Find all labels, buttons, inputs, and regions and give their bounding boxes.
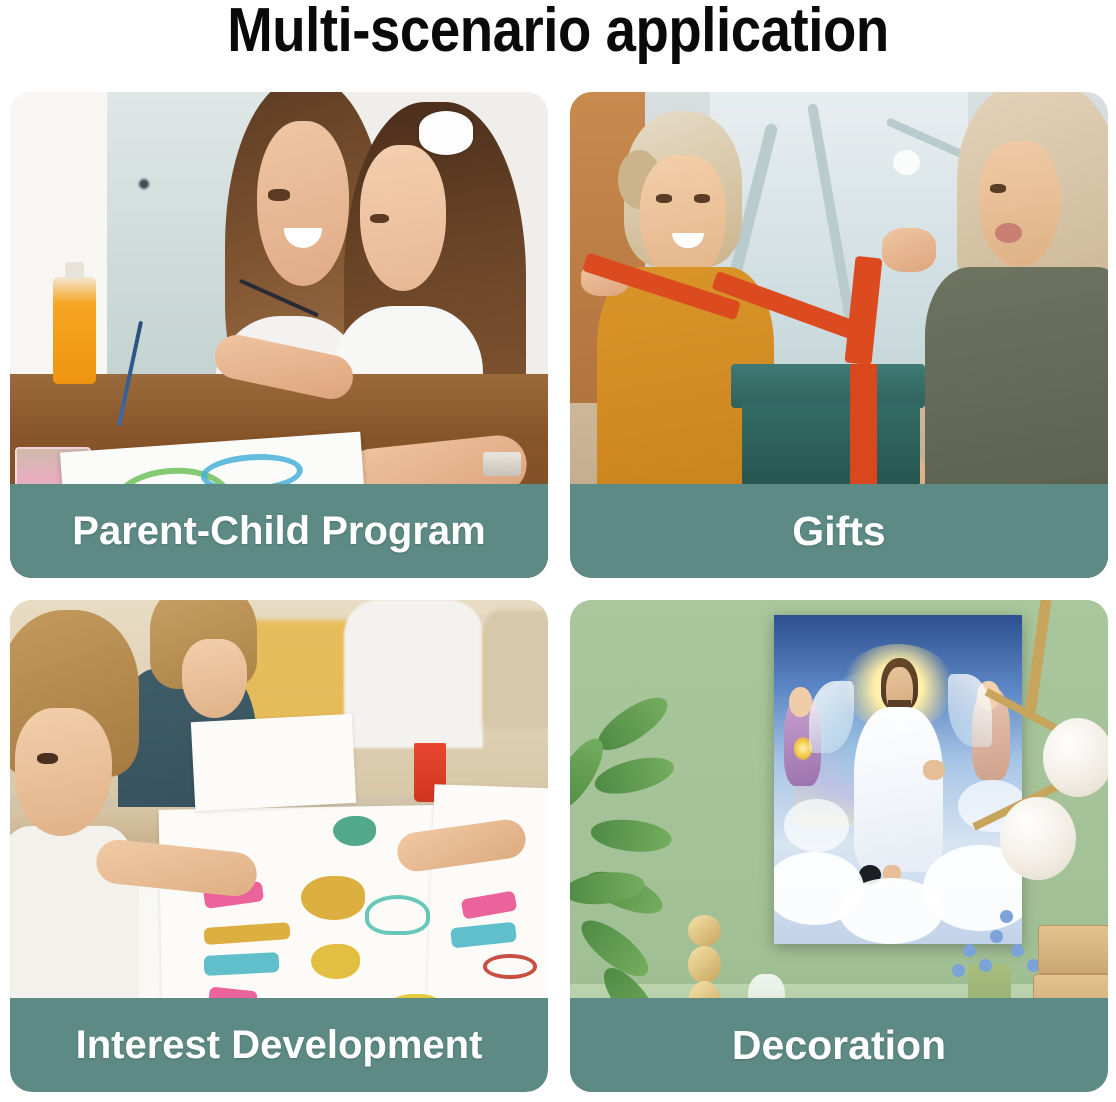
front-child-eye — [37, 753, 59, 765]
adult-figure — [344, 600, 484, 748]
caption-text: Gifts — [792, 508, 885, 555]
cloud — [784, 799, 848, 852]
paper-sheet-back — [191, 714, 357, 811]
wrist-watch — [483, 452, 521, 476]
scenario-grid: Parent-Child Program — [10, 92, 1108, 1092]
ornament-ball — [688, 915, 720, 946]
palm-frond — [591, 750, 677, 799]
caption-bar-parent-child: Parent-Child Program — [10, 484, 548, 578]
woman-eye — [990, 184, 1006, 193]
scenario-card-gifts[interactable]: Gifts — [570, 92, 1108, 578]
ribbon-vertical — [850, 364, 877, 486]
paint-blob — [301, 876, 366, 920]
ornament-ball — [688, 946, 720, 984]
scenario-card-interest-development[interactable]: Interest Development — [10, 600, 548, 1092]
paint-outline-cloud — [365, 895, 430, 934]
page-title: Multi-scenario application — [67, 0, 1049, 66]
caption-bar-interest-development: Interest Development — [10, 998, 548, 1092]
paint-outline — [483, 954, 537, 979]
girl-eye — [694, 194, 710, 203]
second-child-face — [182, 639, 247, 718]
jesus-hand — [923, 760, 945, 780]
girl-face — [640, 155, 726, 281]
girl-eye — [656, 194, 672, 203]
caption-bar-gifts: Gifts — [570, 484, 1108, 578]
woman-open-mouth — [995, 223, 1022, 242]
caption-text: Interest Development — [76, 1023, 483, 1068]
globe-light — [1000, 797, 1075, 881]
canvas-artwork-jesus — [774, 615, 1021, 945]
child-background — [483, 610, 548, 728]
blue-flower — [979, 959, 992, 972]
mother-face — [257, 121, 348, 286]
globe-light — [1043, 718, 1108, 797]
gift-box-lid — [731, 364, 925, 408]
woman-hand-pulling-ribbon — [882, 228, 936, 272]
palm-frond — [589, 816, 673, 855]
scenario-card-decoration[interactable]: Decoration — [570, 600, 1108, 1092]
paint-blob — [311, 944, 359, 978]
bokeh-light — [893, 150, 920, 174]
orange-bottle — [53, 277, 96, 384]
blue-flower — [952, 964, 965, 977]
paint-blob — [333, 816, 376, 846]
caption-text: Parent-Child Program — [72, 509, 485, 554]
child-eye — [370, 214, 388, 224]
woven-basket-top — [1038, 925, 1108, 974]
scenario-card-parent-child[interactable]: Parent-Child Program — [10, 92, 548, 578]
child-hair-bow — [419, 111, 473, 155]
caption-bar-decoration: Decoration — [570, 998, 1108, 1092]
mother-eye — [268, 189, 290, 201]
angel-left-head — [789, 687, 811, 717]
blue-flower — [990, 930, 1003, 943]
jesus-robe — [854, 707, 943, 872]
caption-text: Decoration — [732, 1022, 946, 1069]
gift-box-body — [742, 403, 920, 486]
woman-face — [979, 141, 1060, 267]
product-feature-image: Multi-scenario application — [0, 0, 1116, 1102]
